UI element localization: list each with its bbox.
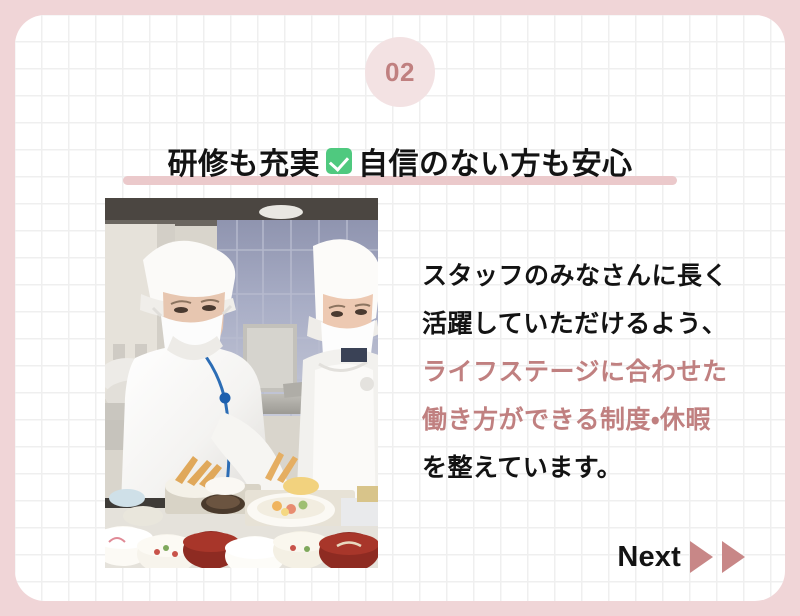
play-arrow-icon — [690, 541, 713, 573]
white-check-mark-icon — [326, 148, 352, 174]
heading-text-before: 研修も充実 — [168, 139, 321, 183]
step-number-badge: 02 — [365, 37, 435, 107]
heading-text-after: 自信のない方も安心 — [358, 139, 633, 183]
copy-line: スタッフのみなさんに長く — [422, 252, 752, 300]
heading: 研修も充実 自信のない方も安心 — [15, 133, 785, 189]
copy-line: を整えています。 — [422, 444, 752, 492]
kitchen-staff-photo — [105, 198, 378, 568]
step-number-label: 02 — [385, 59, 415, 85]
slide-frame: 02 研修も充実 自信のない方も安心 — [0, 0, 800, 616]
next-button[interactable]: Next — [617, 541, 745, 573]
heading-text: 研修も充実 自信のない方も安心 — [168, 139, 633, 183]
next-button-label: Next — [617, 543, 681, 572]
body-copy: スタッフのみなさんに長く 活躍していただけるよう、 ライフステージに合わせた 働… — [422, 252, 752, 492]
copy-line: 働き方ができる制度・休暇 — [422, 396, 752, 444]
copy-line: 活躍していただけるよう、 — [422, 300, 752, 348]
copy-line: ライフステージに合わせた — [422, 348, 752, 396]
play-arrow-icon — [722, 541, 745, 573]
slide-card: 02 研修も充実 自信のない方も安心 — [15, 15, 785, 601]
